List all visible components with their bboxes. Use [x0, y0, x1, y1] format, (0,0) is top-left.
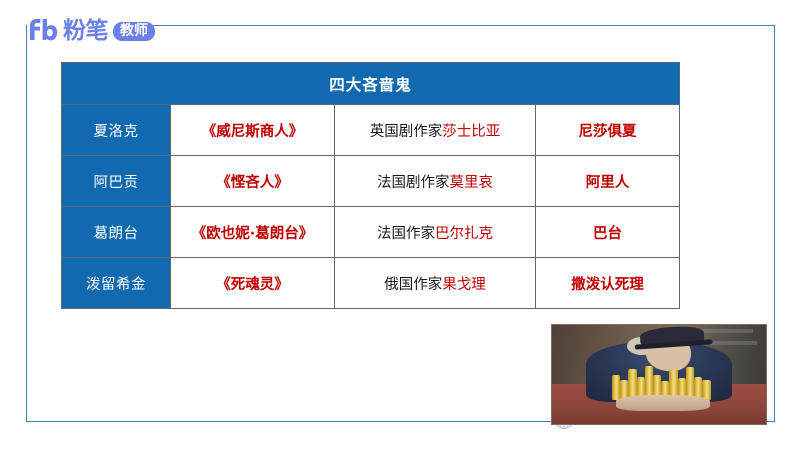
- table-title-row: 四大吝啬鬼: [62, 63, 680, 105]
- table-row: 夏洛克 《威尼斯商人》 英国剧作家莎士比亚 尼莎俱夏: [62, 105, 680, 156]
- cell-author: 法国剧作家莫里哀: [335, 156, 536, 207]
- fb-logo-icon: [28, 18, 58, 44]
- gold-coin: [612, 375, 620, 401]
- author-name: 巴尔扎克: [435, 226, 493, 242]
- table-body: 夏洛克 《威尼斯商人》 英国剧作家莎士比亚 尼莎俱夏 阿巴贡 《悭吝人》 法国剧…: [62, 105, 680, 309]
- illustration-figure-hands: [616, 395, 710, 411]
- brand-name: 粉笔: [63, 20, 108, 43]
- author-prefix: 法国剧作家: [377, 175, 450, 191]
- illustration-shelf: [710, 341, 757, 345]
- cell-character: 阿巴贡: [62, 156, 171, 207]
- cell-character: 泼留希金: [62, 258, 171, 309]
- cell-mnemonic: 尼莎俱夏: [536, 105, 680, 156]
- cell-work: 《死魂灵》: [171, 258, 335, 309]
- author-name: 果戈理: [442, 277, 486, 293]
- miser-illustration: [551, 324, 767, 425]
- cell-character: 葛朗台: [62, 207, 171, 258]
- cell-mnemonic: 巴台: [536, 207, 680, 258]
- author-prefix: 法国作家: [377, 226, 435, 242]
- brand-badge: 教师: [113, 22, 155, 41]
- cell-mnemonic: 阿里人: [536, 156, 680, 207]
- misers-table: 四大吝啬鬼 夏洛克 《威尼斯商人》 英国剧作家莎士比亚 尼莎俱夏 阿巴贡 《悭吝…: [61, 62, 680, 309]
- cell-author: 英国剧作家莎士比亚: [335, 105, 536, 156]
- author-prefix: 英国剧作家: [370, 124, 443, 140]
- cell-mnemonic: 撒泼认死理: [536, 258, 680, 309]
- brand-logo: 粉笔 教师: [28, 16, 155, 46]
- author-name: 莎士比亚: [442, 124, 500, 140]
- table-row: 泼留希金 《死魂灵》 俄国作家果戈理 撒泼认死理: [62, 258, 680, 309]
- cell-work: 《悭吝人》: [171, 156, 335, 207]
- author-prefix: 俄国作家: [384, 277, 442, 293]
- table-title: 四大吝啬鬼: [62, 63, 680, 105]
- table-row: 阿巴贡 《悭吝人》 法国剧作家莫里哀 阿里人: [62, 156, 680, 207]
- table-row: 葛朗台 《欧也妮·葛朗台》 法国作家巴尔扎克 巴台: [62, 207, 680, 258]
- cell-work: 《欧也妮·葛朗台》: [171, 207, 335, 258]
- cell-author: 俄国作家果戈理: [335, 258, 536, 309]
- cell-character: 夏洛克: [62, 105, 171, 156]
- illustration-shelf: [698, 329, 754, 333]
- author-name: 莫里哀: [450, 175, 494, 191]
- frame-top-rule: [152, 25, 775, 26]
- cell-author: 法国作家巴尔扎克: [335, 207, 536, 258]
- cell-work: 《威尼斯商人》: [171, 105, 335, 156]
